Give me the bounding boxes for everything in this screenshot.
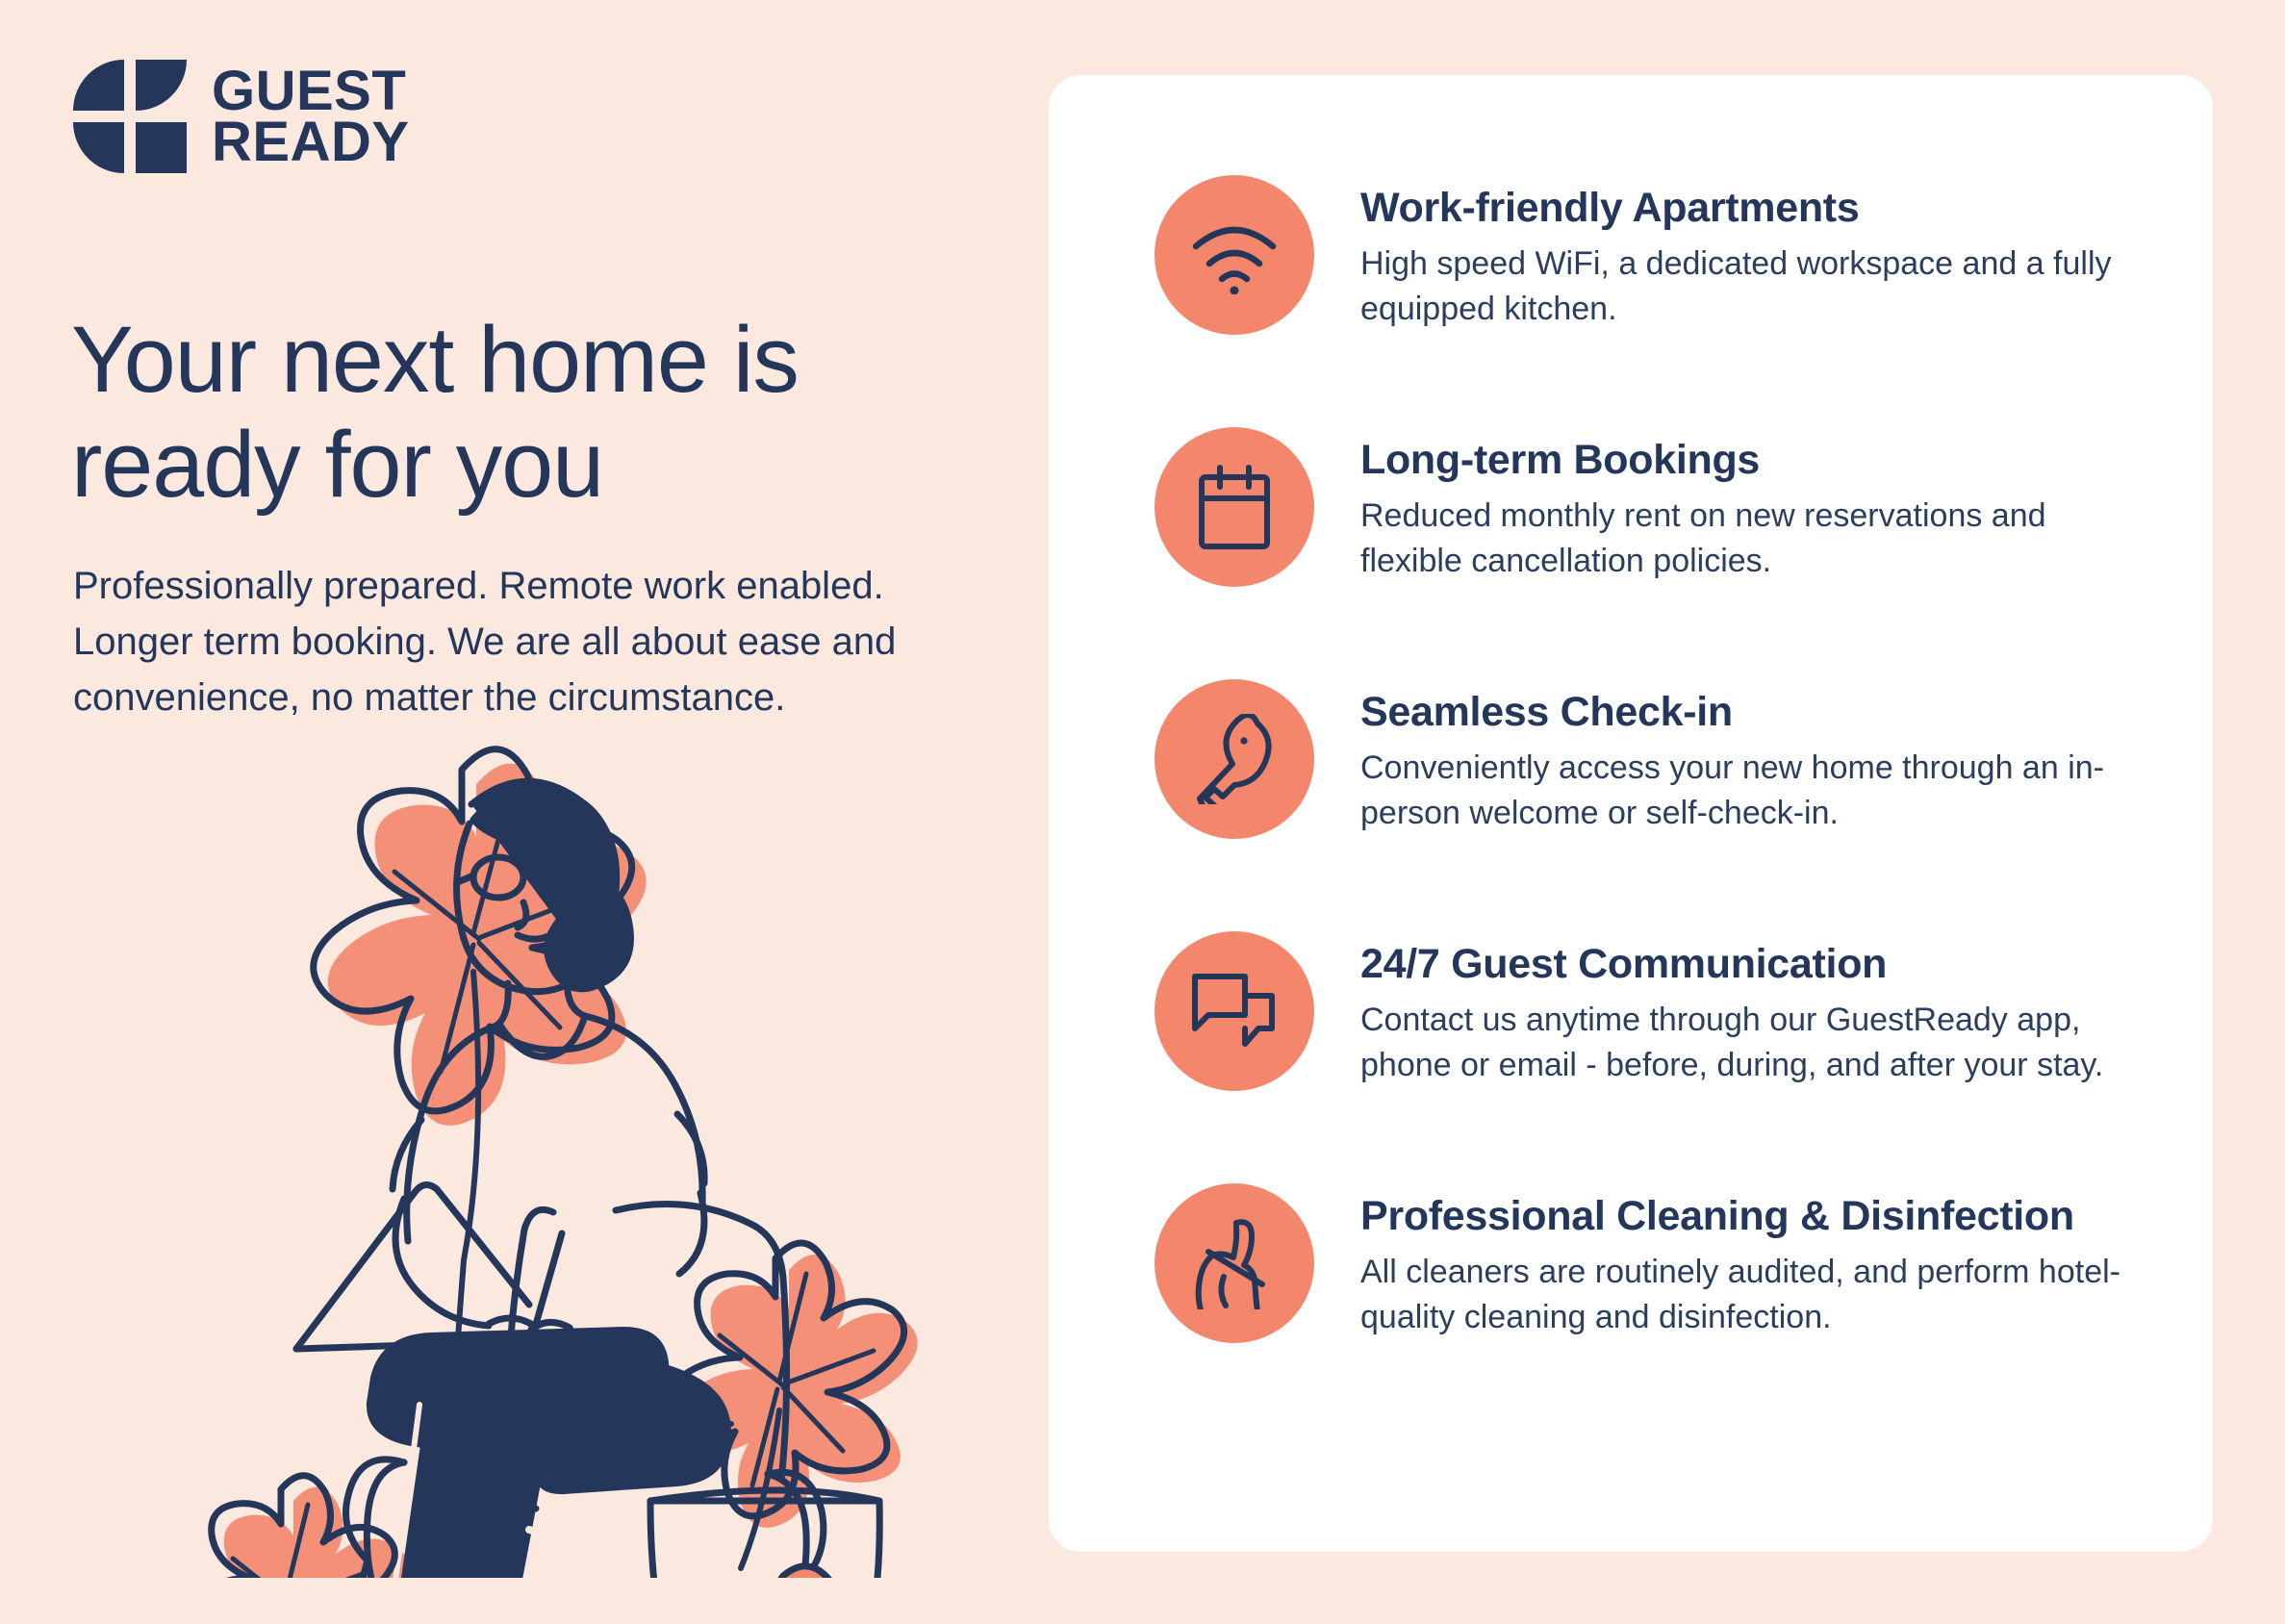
feature-text: Long-term Bookings Reduced monthly rent … bbox=[1360, 423, 2155, 584]
feature-description: Conveniently access your new home throug… bbox=[1360, 746, 2155, 836]
feature-description: All cleaners are routinely audited, and … bbox=[1360, 1250, 2155, 1340]
feature-text: Professional Cleaning & Disinfection All… bbox=[1360, 1180, 2155, 1340]
feature-text: 24/7 Guest Communication Contact us anyt… bbox=[1360, 927, 2155, 1088]
feature-item-professional-cleaning[interactable]: Professional Cleaning & Disinfection All… bbox=[1155, 1180, 2155, 1343]
logo-quadrant-bottom-left bbox=[73, 122, 124, 173]
feature-title: Work-friendly Apartments bbox=[1360, 185, 2155, 232]
features-card: Work-friendly Apartments High speed WiFi… bbox=[1049, 75, 2213, 1552]
chat-bubbles-icon bbox=[1155, 931, 1314, 1091]
guestready-quadrant-mark-icon bbox=[73, 60, 187, 173]
feature-description: Contact us anytime through our GuestRead… bbox=[1360, 998, 2155, 1088]
left-column: GUEST READY Your next home is ready for … bbox=[0, 0, 1020, 1624]
page-subcopy: Professionally prepared. Remote work ena… bbox=[73, 558, 939, 725]
brand-wordmark-line2: READY bbox=[212, 116, 410, 167]
feature-description: Reduced monthly rent on new reservations… bbox=[1360, 494, 2155, 584]
feature-text: Seamless Check-in Conveniently access yo… bbox=[1360, 675, 2155, 836]
logo-quadrant-top-right bbox=[136, 60, 187, 111]
feature-title: Professional Cleaning & Disinfection bbox=[1360, 1193, 2155, 1240]
calendar-icon bbox=[1155, 427, 1314, 587]
feature-text: Work-friendly Apartments High speed WiFi… bbox=[1360, 171, 2155, 332]
hero-illustration bbox=[115, 731, 981, 1578]
page-title: Your next home is ready for you bbox=[71, 308, 976, 517]
broom-icon bbox=[1155, 1183, 1314, 1343]
feature-description: High speed WiFi, a dedicated workspace a… bbox=[1360, 241, 2155, 332]
logo-quadrant-bottom-right bbox=[136, 122, 187, 173]
feature-title: 24/7 Guest Communication bbox=[1360, 941, 2155, 988]
feature-item-seamless-check-in[interactable]: Seamless Check-in Conveniently access yo… bbox=[1155, 675, 2155, 839]
feature-item-guest-communication[interactable]: 24/7 Guest Communication Contact us anyt… bbox=[1155, 927, 2155, 1091]
feature-list: Work-friendly Apartments High speed WiFi… bbox=[1155, 171, 2155, 1343]
logo-quadrant-top-left bbox=[73, 60, 124, 111]
feature-title: Long-term Bookings bbox=[1360, 437, 2155, 484]
wifi-icon bbox=[1155, 175, 1314, 335]
brand-logo[interactable]: GUEST READY bbox=[73, 60, 410, 173]
feature-title: Seamless Check-in bbox=[1360, 689, 2155, 736]
brand-wordmark: GUEST READY bbox=[212, 65, 410, 168]
brand-wordmark-line1: GUEST bbox=[212, 65, 410, 116]
feature-item-work-friendly-apartments[interactable]: Work-friendly Apartments High speed WiFi… bbox=[1155, 171, 2155, 335]
key-icon bbox=[1155, 679, 1314, 839]
feature-item-long-term-bookings[interactable]: Long-term Bookings Reduced monthly rent … bbox=[1155, 423, 2155, 587]
